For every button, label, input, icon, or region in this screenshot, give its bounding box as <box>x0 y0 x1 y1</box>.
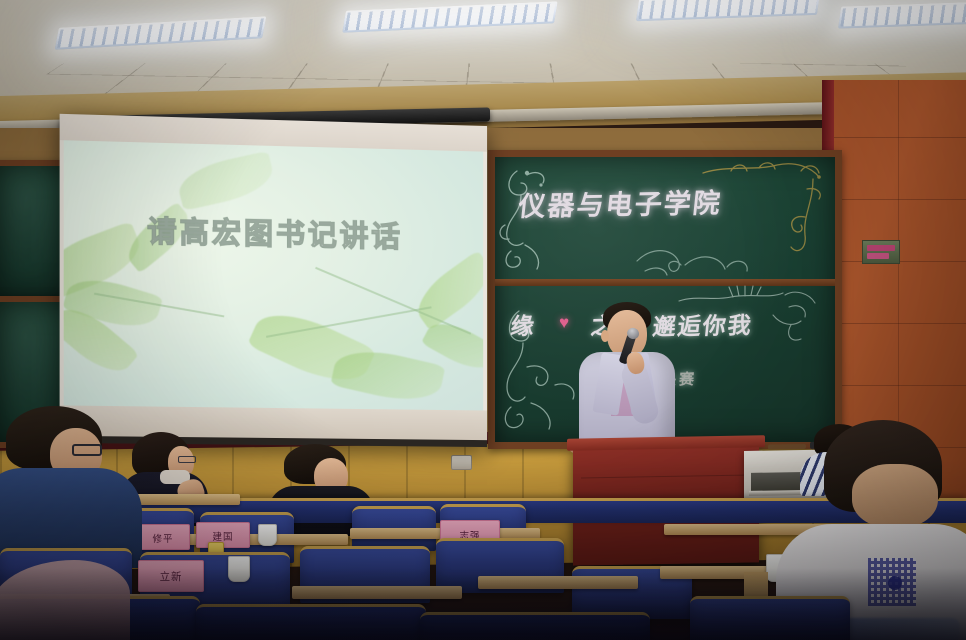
chalk-decoration-swirl <box>635 231 755 279</box>
desk-surface <box>478 576 638 589</box>
ceiling-light-fixture <box>342 1 557 33</box>
projected-slide: 请高宏图书记讲话 <box>64 140 483 410</box>
paper-cup <box>228 556 250 582</box>
wall-sign <box>862 240 900 264</box>
projection-screen[interactable]: 请高宏图书记讲话 <box>60 114 487 447</box>
slide-title-text: 请高宏图书记讲话 <box>147 208 403 256</box>
lecture-seat-foreground[interactable] <box>420 612 650 640</box>
desk-surface <box>292 586 462 599</box>
person-head <box>852 464 938 528</box>
name-placard-text: 建国 <box>213 528 234 542</box>
podium-top-surface <box>567 435 765 450</box>
ceiling-light-fixture <box>55 16 267 49</box>
podium-panel-line <box>581 475 751 479</box>
name-placard: 修平 <box>136 524 190 550</box>
ceiling-light-fixture <box>838 1 966 28</box>
blackboard-heading: 仪器与电子学院 <box>517 181 725 224</box>
name-placard: 立新 <box>138 560 204 592</box>
lecture-seat[interactable] <box>690 596 850 640</box>
eyeglasses-icon <box>72 444 102 456</box>
name-placard-text: 立新 <box>160 568 183 583</box>
audience-member-foreground-head <box>0 560 130 640</box>
audience-member-foreground-left <box>0 406 140 566</box>
blackboard-divider <box>495 279 835 286</box>
lecture-seat-foreground[interactable] <box>196 604 426 640</box>
blackboard-subheading-left: 缘 <box>509 307 538 342</box>
speaker-ear <box>601 330 609 342</box>
wall-sign-line <box>867 245 895 251</box>
name-placard-text: 修平 <box>153 530 174 544</box>
slide-leaf <box>408 250 483 331</box>
chalk-heart-icon: ♥ <box>559 313 569 333</box>
tshirt-graphic-band <box>840 618 960 640</box>
ceiling-light-fixture <box>636 0 820 21</box>
paper-cup <box>258 524 277 546</box>
wall-sign-line <box>867 253 889 259</box>
qr-code-center-dot <box>888 576 902 590</box>
wall-outlet <box>451 455 472 470</box>
slide-leaf <box>174 151 277 211</box>
lecture-hall-photo: 仪器与电子学院 缘 ♥ 之 邂逅你我 大赛决赛 请高宏图书记讲话 <box>0 0 966 640</box>
eyeglasses-icon <box>178 456 196 463</box>
